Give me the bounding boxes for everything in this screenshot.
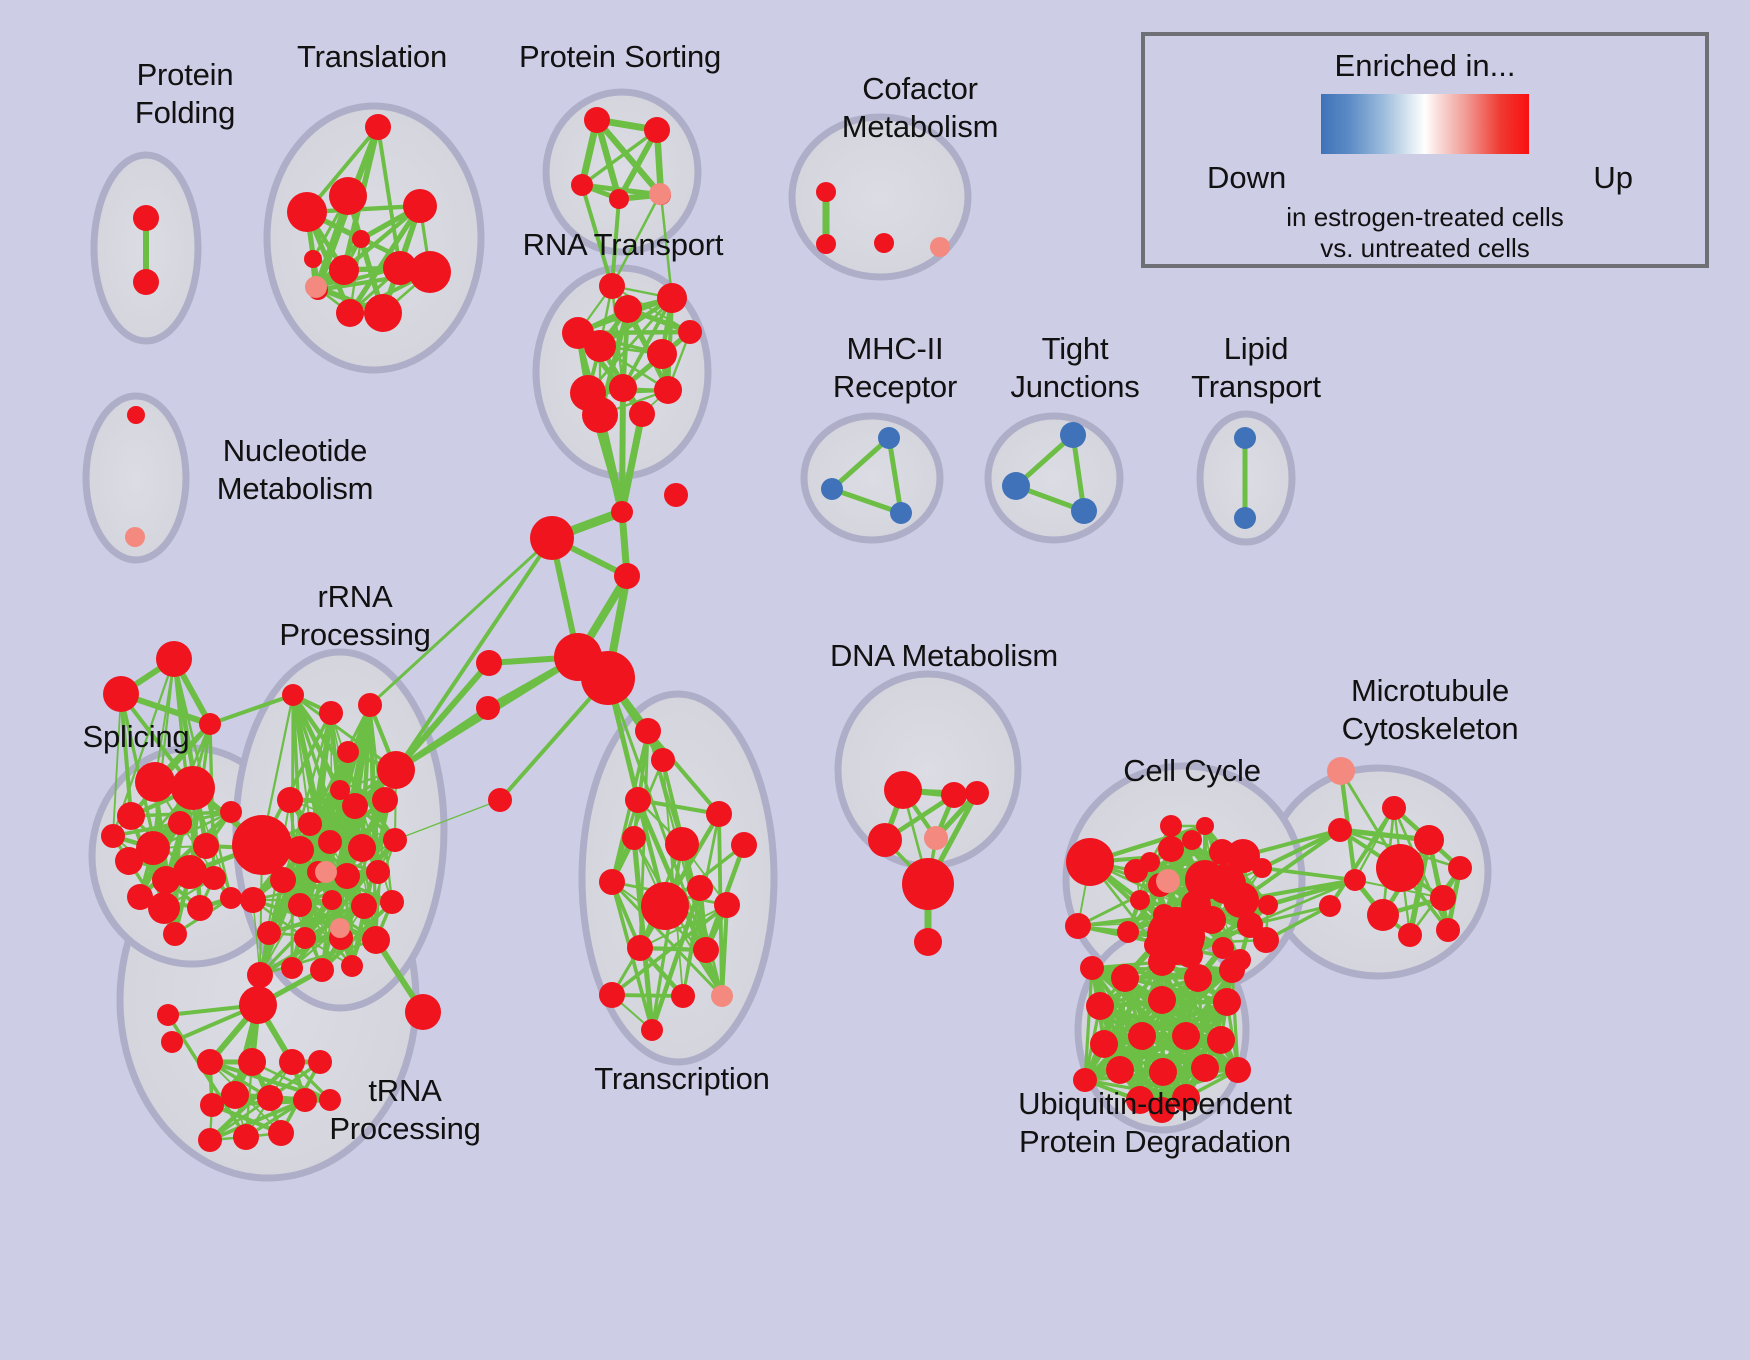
network-node <box>1066 838 1114 886</box>
network-node <box>298 812 322 836</box>
network-node <box>1213 988 1241 1016</box>
network-node <box>156 641 192 677</box>
network-node <box>277 787 303 813</box>
network-node <box>240 887 266 913</box>
network-node <box>635 718 661 744</box>
network-node <box>627 935 653 961</box>
network-node <box>268 1120 294 1146</box>
cluster-label-splicing: Splicing <box>58 718 214 756</box>
network-node <box>334 863 360 889</box>
network-node <box>1207 1026 1235 1054</box>
network-node <box>821 478 843 500</box>
network-node <box>148 892 180 924</box>
cluster-label-protein-folding: Protein Folding <box>80 56 290 132</box>
network-node <box>200 1093 224 1117</box>
network-node <box>1209 839 1235 865</box>
network-node <box>488 788 512 812</box>
network-node <box>220 801 242 823</box>
network-node <box>125 527 145 547</box>
network-node <box>644 117 670 143</box>
network-node <box>163 922 187 946</box>
network-node <box>868 823 902 857</box>
network-node <box>337 741 359 763</box>
network-node <box>1430 885 1456 911</box>
network-node <box>329 177 367 215</box>
network-node <box>609 374 637 402</box>
network-node <box>362 926 390 954</box>
network-node <box>665 827 699 861</box>
network-node <box>1196 817 1214 835</box>
network-node <box>1156 869 1180 893</box>
network-node <box>287 192 327 232</box>
network-node <box>193 833 219 859</box>
network-node <box>117 802 145 830</box>
network-node <box>914 928 942 956</box>
cluster-label-trna-processing: tRNA Processing <box>300 1072 510 1148</box>
network-node <box>342 793 368 819</box>
network-node <box>377 751 415 789</box>
network-node <box>941 782 967 808</box>
cluster-label-microtubule-cytoskeleton: Microtubule Cytoskeleton <box>1300 672 1560 748</box>
network-node <box>599 273 625 299</box>
network-node <box>1086 992 1114 1020</box>
network-node <box>1225 1057 1251 1083</box>
network-node <box>625 787 651 813</box>
network-node <box>336 299 364 327</box>
network-node <box>1234 427 1256 449</box>
network-node <box>693 937 719 963</box>
network-node <box>654 376 682 404</box>
network-node <box>884 771 922 809</box>
network-node <box>257 921 281 945</box>
network-node <box>1148 986 1176 1014</box>
network-node <box>238 1048 266 1076</box>
network-node <box>902 858 954 910</box>
network-node <box>1344 869 1366 891</box>
legend-high-label: Up <box>1593 160 1633 196</box>
network-node <box>341 955 363 977</box>
network-node <box>664 483 688 507</box>
network-node <box>687 875 713 901</box>
network-node <box>599 982 625 1008</box>
network-node <box>409 251 451 293</box>
network-node <box>310 958 334 982</box>
cluster-label-nucleotide-metabolism: Nucleotide Metabolism <box>190 432 400 508</box>
network-node <box>202 866 226 890</box>
cluster-label-transcription: Transcription <box>572 1060 792 1098</box>
network-node <box>270 867 296 893</box>
cluster-label-tight-junctions: Tight Junctions <box>985 330 1165 406</box>
network-node <box>103 676 139 712</box>
network-node <box>197 1049 223 1075</box>
network-node <box>1172 1022 1200 1050</box>
network-node <box>930 237 950 257</box>
network-node <box>611 501 633 523</box>
network-node <box>641 1019 663 1041</box>
network-edge <box>396 538 552 770</box>
hull-mhc-ii-receptor <box>804 416 940 540</box>
network-node <box>304 250 322 268</box>
network-node <box>1106 1056 1134 1084</box>
network-node <box>1448 856 1472 880</box>
network-node <box>1234 507 1256 529</box>
network-node <box>366 860 390 884</box>
network-node <box>239 986 277 1024</box>
network-node <box>641 882 689 930</box>
network-node <box>571 174 593 196</box>
cluster-label-dna-metabolism: DNA Metabolism <box>818 637 1070 675</box>
network-node <box>599 869 625 895</box>
network-node <box>133 269 159 295</box>
network-node <box>1319 895 1341 917</box>
network-node <box>1128 1022 1156 1050</box>
network-node <box>1253 927 1279 953</box>
network-node <box>706 801 732 827</box>
network-node <box>1002 472 1030 500</box>
cluster-label-rna-transport: RNA Transport <box>506 226 740 264</box>
network-node <box>1328 818 1352 842</box>
network-node <box>281 957 303 979</box>
network-node <box>348 834 376 862</box>
network-node <box>405 994 441 1030</box>
network-node <box>657 283 687 313</box>
network-node <box>187 895 213 921</box>
network-node <box>614 295 642 323</box>
legend-subtitle-line1: in estrogen-treated cells <box>1145 202 1705 233</box>
network-node <box>1252 858 1272 878</box>
network-node <box>157 1004 179 1026</box>
network-node <box>319 701 343 725</box>
network-node <box>198 1128 222 1152</box>
network-node <box>1182 830 1202 850</box>
network-node <box>221 1081 249 1109</box>
network-node <box>329 255 359 285</box>
network-node <box>647 339 677 369</box>
network-node <box>609 189 629 209</box>
network-node <box>1184 964 1212 992</box>
network-node <box>1060 422 1086 448</box>
network-node <box>731 832 757 858</box>
network-node <box>351 893 377 919</box>
network-node <box>308 1050 332 1074</box>
legend-low-label: Down <box>1207 160 1286 196</box>
cluster-label-mhc-ii-receptor: MHC-II Receptor <box>800 330 990 406</box>
network-node <box>1117 921 1139 943</box>
cluster-label-ubiquitin-degradation: Ubiquitin-dependent Protein Degradation <box>990 1085 1320 1161</box>
network-node <box>305 276 327 298</box>
network-node <box>1111 964 1139 992</box>
network-node <box>874 233 894 253</box>
network-node <box>581 651 635 705</box>
network-node <box>168 811 192 835</box>
network-node <box>1191 1054 1219 1082</box>
cluster-label-lipid-transport: Lipid Transport <box>1162 330 1350 406</box>
network-node <box>1158 836 1184 862</box>
network-node <box>890 502 912 524</box>
network-node <box>582 397 618 433</box>
legend-subtitle-line2: vs. untreated cells <box>1145 233 1705 264</box>
network-node <box>1414 825 1444 855</box>
network-node <box>294 927 316 949</box>
network-node <box>1149 1058 1177 1086</box>
network-node <box>816 182 836 202</box>
network-node <box>711 985 733 1007</box>
cluster-label-translation: Translation <box>272 38 472 76</box>
network-node <box>1130 890 1150 910</box>
network-node <box>322 890 342 910</box>
cluster-label-cofactor-metabolism: Cofactor Metabolism <box>800 70 1040 146</box>
legend-title: Enriched in... <box>1145 48 1705 84</box>
network-node <box>476 696 500 720</box>
enrichment-network-figure: Protein FoldingTranslationProtein Sortin… <box>0 0 1750 1360</box>
network-node <box>614 563 640 589</box>
network-node <box>1327 757 1355 785</box>
network-node <box>530 516 574 560</box>
network-node <box>1124 859 1148 883</box>
network-node <box>1090 1030 1118 1058</box>
network-node <box>476 650 502 676</box>
network-node <box>171 766 215 810</box>
network-node <box>678 320 702 344</box>
network-node <box>1148 948 1176 976</box>
network-node <box>173 855 207 889</box>
network-node <box>965 781 989 805</box>
cluster-label-cell-cycle: Cell Cycle <box>1100 752 1284 790</box>
network-node <box>161 1031 183 1053</box>
network-node <box>220 887 242 909</box>
network-node <box>135 762 175 802</box>
network-edge <box>622 388 623 512</box>
network-node <box>629 401 655 427</box>
network-node <box>127 406 145 424</box>
network-node <box>622 826 646 850</box>
network-node <box>232 815 292 875</box>
network-node <box>282 684 304 706</box>
network-node <box>714 892 740 918</box>
network-node <box>1258 895 1278 915</box>
network-node <box>1065 913 1091 939</box>
network-node <box>1436 918 1460 942</box>
network-node <box>383 828 407 852</box>
network-node <box>318 830 342 854</box>
network-node <box>315 861 337 883</box>
network-node <box>352 230 370 248</box>
network-node <box>247 962 273 988</box>
network-node <box>133 205 159 231</box>
network-node <box>257 1085 283 1111</box>
network-node <box>924 826 948 850</box>
cluster-label-protein-sorting: Protein Sorting <box>500 38 740 76</box>
network-node <box>403 189 437 223</box>
network-node <box>1080 956 1104 980</box>
network-node <box>1071 498 1097 524</box>
legend-subtitle: in estrogen-treated cells vs. untreated … <box>1145 202 1705 264</box>
network-node <box>288 893 312 917</box>
cluster-label-rrna-processing: rRNA Processing <box>250 578 460 654</box>
network-node <box>115 847 143 875</box>
network-node <box>1398 923 1422 947</box>
network-node <box>878 427 900 449</box>
network-node <box>233 1124 259 1150</box>
network-node <box>101 824 125 848</box>
network-node <box>1367 899 1399 931</box>
network-node <box>816 234 836 254</box>
legend-panel: Enriched in... Down Up in estrogen-treat… <box>1141 32 1709 268</box>
network-node <box>365 114 391 140</box>
network-node <box>380 890 404 914</box>
network-node <box>372 787 398 813</box>
network-node <box>671 984 695 1008</box>
network-node <box>1376 844 1424 892</box>
network-node <box>1382 796 1406 820</box>
network-node <box>286 836 314 864</box>
network-node <box>584 107 610 133</box>
network-node <box>651 748 675 772</box>
legend-color-bar <box>1321 94 1529 154</box>
network-node <box>330 918 350 938</box>
network-node <box>364 294 402 332</box>
network-node <box>1219 957 1245 983</box>
network-node <box>1160 815 1182 837</box>
network-node <box>649 183 671 205</box>
network-node <box>584 330 616 362</box>
network-node <box>358 693 382 717</box>
